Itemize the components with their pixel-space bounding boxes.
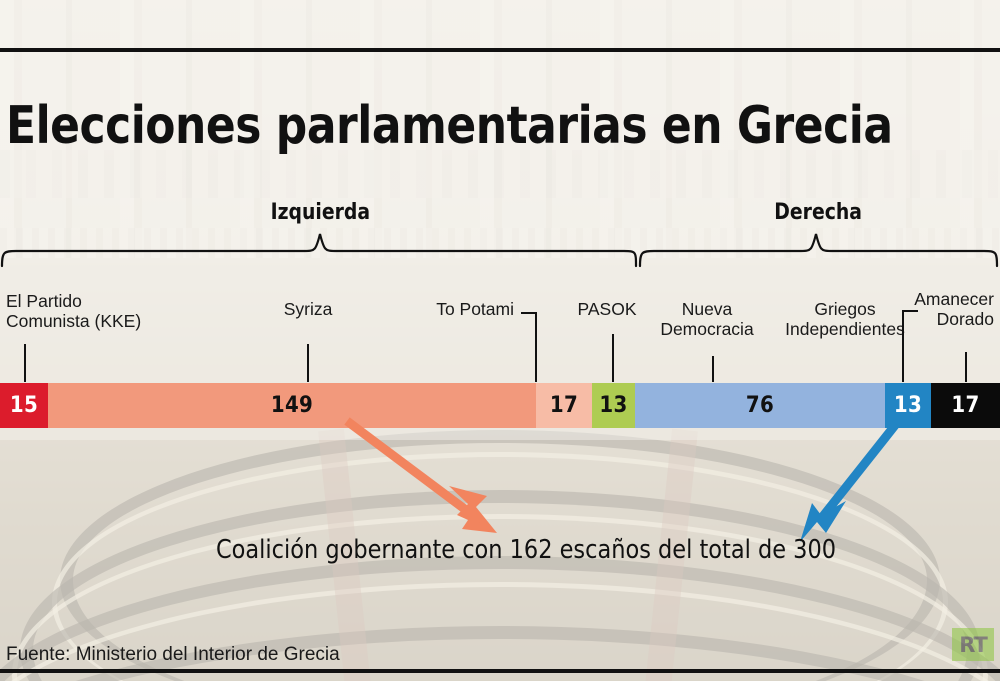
- coalition-caption: Coalición gobernante con 162 escaños del…: [216, 535, 836, 565]
- bottom-divider-rule: [0, 669, 1000, 673]
- graphic-layer: Elecciones parlamentarias en Grecia Izqu…: [0, 0, 1000, 681]
- coalition-arrow-syriza: [347, 421, 497, 533]
- infographic-root: Elecciones parlamentarias en Grecia Izqu…: [0, 0, 1000, 681]
- rt-logo-text: RT: [959, 633, 987, 657]
- source-note: Fuente: Ministerio del Interior de Greci…: [6, 644, 340, 666]
- coalition-arrow-griegos: [800, 424, 896, 542]
- coalition-arrows: [0, 0, 1000, 681]
- rt-logo: RT: [952, 628, 994, 661]
